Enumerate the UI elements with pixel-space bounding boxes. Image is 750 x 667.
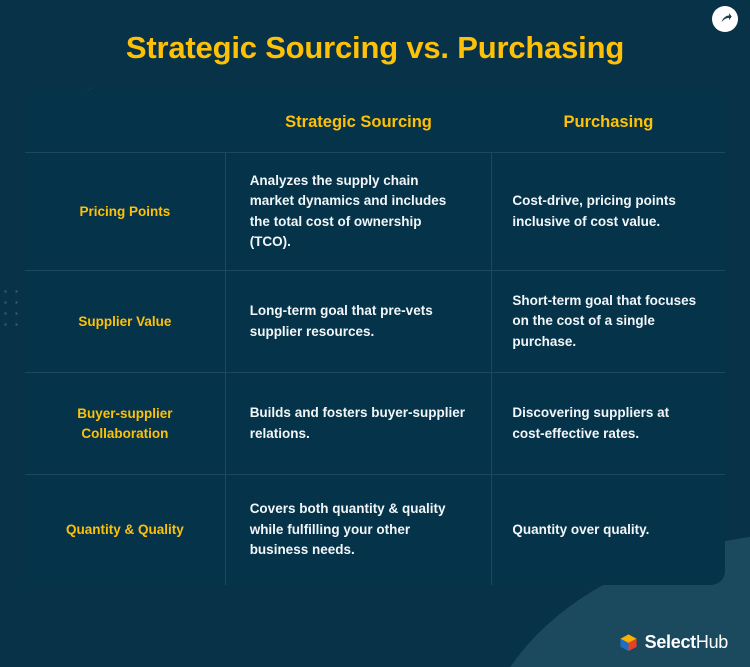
comparison-table: Strategic Sourcing Purchasing Pricing Po…	[25, 91, 725, 585]
selecthub-cube-icon	[619, 633, 638, 652]
brand-wordmark: SelectHub	[645, 632, 728, 653]
cell-purchasing: Short-term goal that focuses on the cost…	[492, 271, 725, 373]
table-header-row: Strategic Sourcing Purchasing	[25, 91, 725, 153]
header-strategic-sourcing: Strategic Sourcing	[225, 91, 492, 153]
share-button[interactable]	[712, 6, 738, 32]
cell-strategic-sourcing: Long-term goal that pre-vets supplier re…	[225, 271, 492, 373]
row-label: Buyer-supplier Collaboration	[25, 373, 225, 475]
brand-hub: Hub	[696, 632, 728, 652]
table-row: Pricing Points Analyzes the supply chain…	[25, 153, 725, 271]
cell-purchasing: Quantity over quality.	[492, 475, 725, 585]
footer-branding: SelectHub	[619, 632, 728, 653]
cell-strategic-sourcing: Analyzes the supply chain market dynamic…	[225, 153, 492, 271]
row-label: Pricing Points	[25, 153, 225, 271]
left-dot-grid-pattern	[0, 286, 26, 334]
table-row: Supplier Value Long-term goal that pre-v…	[25, 271, 725, 373]
header-purchasing: Purchasing	[492, 91, 725, 153]
cell-purchasing: Discovering suppliers at cost-effective …	[492, 373, 725, 475]
cell-strategic-sourcing: Builds and fosters buyer-supplier relati…	[225, 373, 492, 475]
header-criteria	[25, 91, 225, 153]
brand-select: Select	[645, 632, 696, 652]
share-arrow-icon	[718, 12, 732, 26]
row-label: Supplier Value	[25, 271, 225, 373]
row-label: Quantity & Quality	[25, 475, 225, 585]
table-row: Buyer-supplier Collaboration Builds and …	[25, 373, 725, 475]
table-row: Quantity & Quality Covers both quantity …	[25, 475, 725, 585]
table-body: Pricing Points Analyzes the supply chain…	[25, 153, 725, 585]
cell-purchasing: Cost-drive, pricing points inclusive of …	[492, 153, 725, 271]
page-title: Strategic Sourcing vs. Purchasing	[0, 0, 750, 66]
comparison-card: Strategic Sourcing Purchasing Pricing Po…	[25, 91, 725, 585]
cell-strategic-sourcing: Covers both quantity & quality while ful…	[225, 475, 492, 585]
